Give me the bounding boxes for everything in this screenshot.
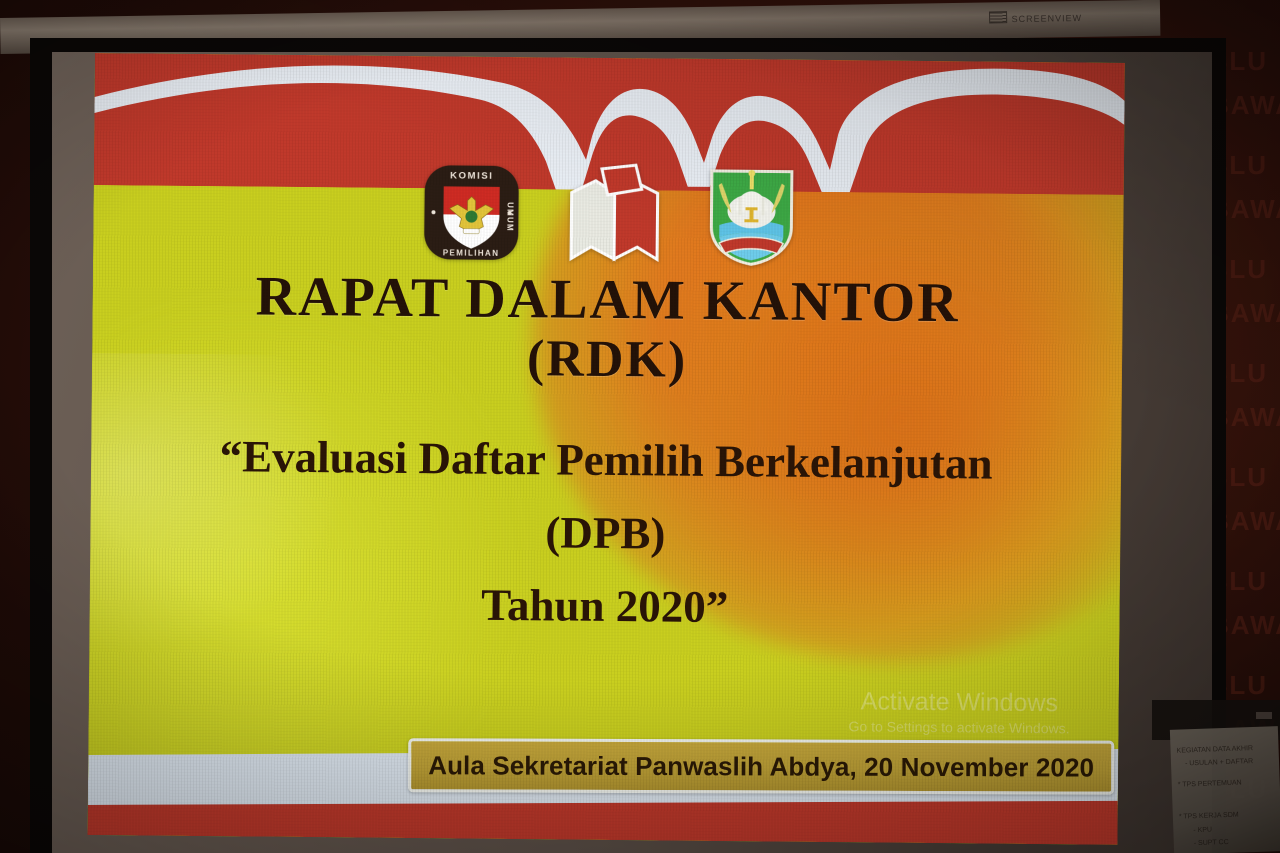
svg-text:PEMILIHAN: PEMILIHAN — [443, 248, 500, 258]
presentation-slide: KOMISI PEMILIHAN UMUM — [87, 53, 1124, 845]
aceh-barat-daya-regency-crest — [705, 163, 798, 268]
slide-subtitle: “Evaluasi Daftar Pemilih Berkelanjutan (… — [89, 419, 1121, 648]
slide-caption-box: Aula Sekretariat Panwaslih Abdya, 20 Nov… — [408, 738, 1114, 794]
handwriting-line: * TPS KERJA SDM — [1179, 812, 1239, 821]
slide-title-line1: RAPAT DALAM KANTOR — [255, 266, 959, 335]
handwriting-line: - USULAN + DAFTAR — [1185, 758, 1253, 767]
slide-subtitle-line3: Tahun 2020” — [89, 565, 1120, 648]
slide-title-line2: (RDK) — [92, 328, 1122, 391]
flipchart-paper: KEGIATAN DATA AKHIR - USULAN + DAFTAR * … — [1170, 726, 1280, 853]
handwriting-line: * TPS PERTEMUAN — [1178, 779, 1242, 788]
ballot-box-logo — [565, 163, 664, 266]
kpu-logo: KOMISI PEMILIHAN UMUM — [419, 160, 524, 265]
slide-logo-row: KOMISI PEMILIHAN UMUM — [93, 149, 1124, 279]
slide-subtitle-line1: “Evaluasi Daftar Pemilih Berkelanjutan — [91, 419, 1122, 502]
svg-text:UMUM: UMUM — [505, 202, 514, 232]
slide-text-block: RAPAT DALAM KANTOR (RDK) “Evaluasi Dafta… — [89, 267, 1123, 648]
slide-caption-text: Aula Sekretariat Panwaslih Abdya, 20 Nov… — [428, 750, 1094, 783]
handwriting-line: - KPU — [1193, 827, 1212, 835]
brand-mark-icon — [990, 11, 1008, 23]
handwriting-line: KEGIATAN DATA AKHIR — [1176, 745, 1253, 755]
screen-brand-label: SCREENVIEW — [990, 10, 1083, 24]
handwriting-line: - SUPT CC — [1194, 839, 1229, 847]
monitor-badge — [1256, 712, 1272, 719]
slide-title: RAPAT DALAM KANTOR (RDK) — [92, 267, 1123, 391]
slide-subtitle-line2: (DPB) — [90, 492, 1121, 575]
photo-scene: BAWASLU BAWASLU BAWASLU BAWASLU BAWASLU … — [0, 0, 1280, 853]
svg-text:KOMISI: KOMISI — [450, 170, 493, 181]
